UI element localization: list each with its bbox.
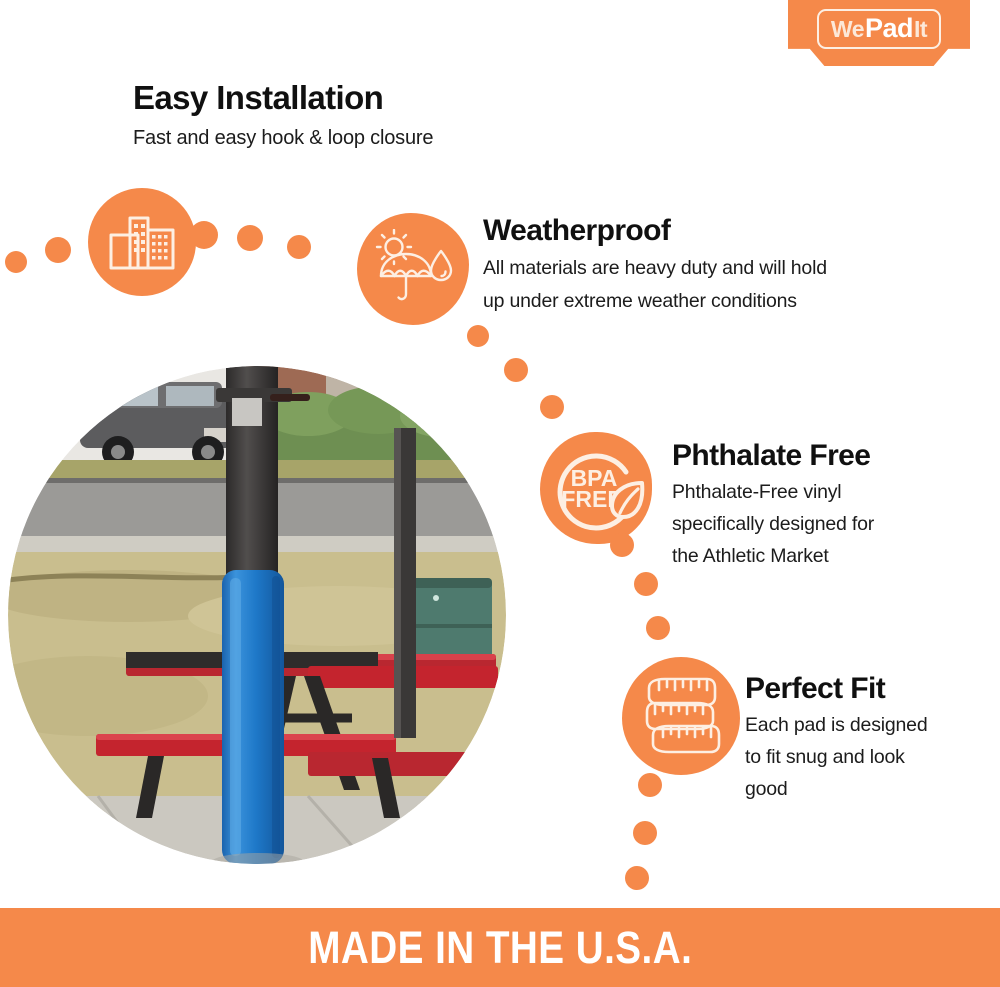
trail-dot xyxy=(634,572,658,596)
bpa-free-leaf-icon: BPA FREE xyxy=(540,432,652,544)
trail-dot xyxy=(190,221,218,249)
feature-block-easy-installation: Easy Installation Fast and easy hook & l… xyxy=(133,78,433,152)
product-photo xyxy=(8,366,506,864)
feature-block-perfect-fit: Perfect Fit Each pad is designed to fit … xyxy=(745,670,927,804)
feature-description-easy-installation: Fast and easy hook & loop closure xyxy=(133,124,433,152)
logo-text-pad: Pad xyxy=(864,13,914,44)
feature-description-perfect-fit-line3: good xyxy=(745,775,927,804)
feature-title-phthalate-free: Phthalate Free xyxy=(672,437,874,475)
trail-dot xyxy=(625,866,649,890)
feature-title-perfect-fit: Perfect Fit xyxy=(745,670,927,708)
made-in-usa-banner: MADE IN THE U.S.A. xyxy=(0,908,1000,987)
trail-dot xyxy=(610,533,634,557)
brand-logo-banner[interactable]: We Pad It xyxy=(788,0,970,66)
trail-dot xyxy=(504,358,528,382)
infographic-canvas: We Pad It Easy Installation Fast and eas… xyxy=(0,0,1000,987)
trail-dot xyxy=(467,325,489,347)
trail-dot xyxy=(287,235,311,259)
measuring-tape-icon xyxy=(622,657,740,775)
trail-dot xyxy=(646,616,670,640)
feature-block-weatherproof: Weatherproof All materials are heavy dut… xyxy=(483,212,827,316)
feature-title-weatherproof: Weatherproof xyxy=(483,212,827,250)
trail-dot xyxy=(5,251,27,273)
trail-dot xyxy=(638,773,662,797)
logo-text-we: We xyxy=(831,16,864,43)
feature-description-phthalate-free-line1: Phthalate-Free vinyl xyxy=(672,478,874,507)
trail-dot xyxy=(540,395,564,419)
feature-description-perfect-fit-line1: Each pad is designed xyxy=(745,711,927,740)
umbrella-sun-raindrop-icon xyxy=(357,213,469,325)
feature-description-weatherproof-line2: up under extreme weather conditions xyxy=(483,287,827,316)
made-in-usa-text: MADE IN THE U.S.A. xyxy=(308,922,692,974)
logo-text-it: It xyxy=(914,16,927,43)
trail-dot xyxy=(237,225,263,251)
feature-description-perfect-fit-line2: to fit snug and look xyxy=(745,743,927,772)
trail-dot xyxy=(45,237,71,263)
feature-description-phthalate-free-line2: specifically designed for xyxy=(672,510,874,539)
feature-title-easy-installation: Easy Installation xyxy=(133,78,433,118)
building-icon xyxy=(88,188,196,296)
feature-description-phthalate-free-line3: the Athletic Market xyxy=(672,542,874,571)
trail-dot xyxy=(633,821,657,845)
brand-logo-frame: We Pad It xyxy=(817,9,941,49)
feature-block-phthalate-free: Phthalate Free Phthalate-Free vinyl spec… xyxy=(672,437,874,571)
feature-description-weatherproof-line1: All materials are heavy duty and will ho… xyxy=(483,254,827,283)
